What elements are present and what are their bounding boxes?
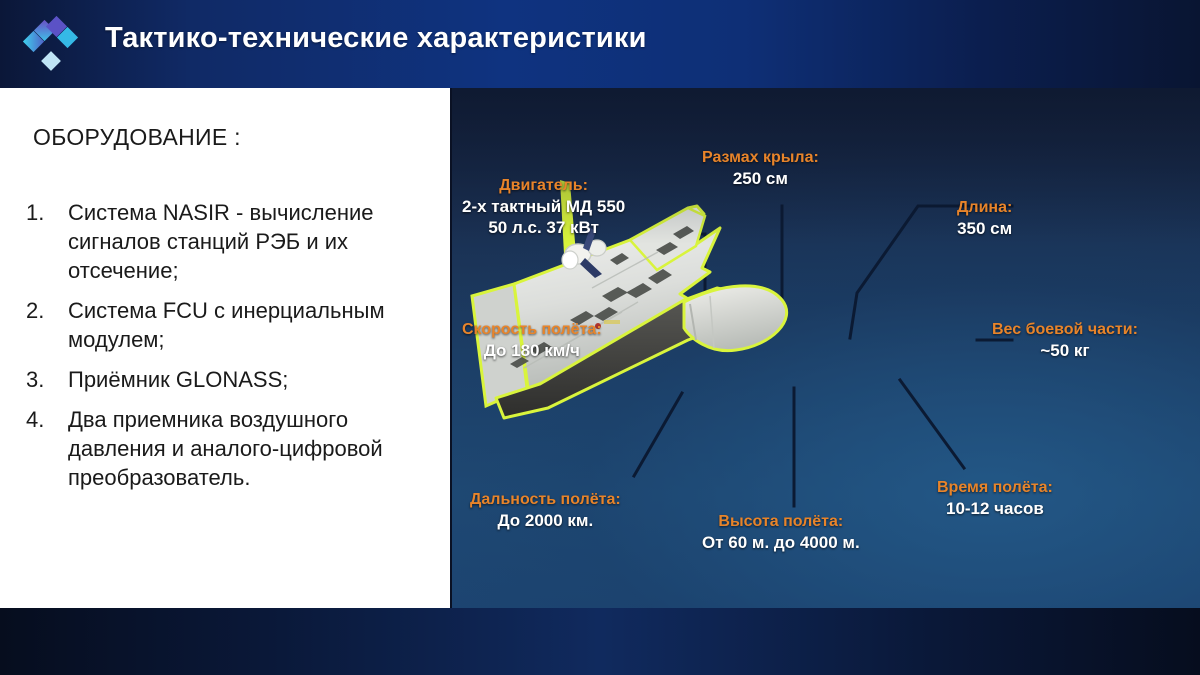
list-item: 3. Приёмник GLONASS;: [16, 365, 436, 394]
list-item-number: 4.: [16, 405, 68, 434]
list-item: 1. Система NASIR - вычисление сигналов с…: [16, 198, 436, 285]
equipment-list: 1. Система NASIR - вычисление сигналов с…: [16, 198, 436, 503]
list-item-number: 3.: [16, 365, 68, 394]
callout-value: 2-х тактный МД 550: [462, 196, 625, 217]
callout-key: Дальность полёта:: [470, 490, 621, 510]
callout-value: 350 см: [957, 218, 1012, 239]
callout-key: Двигатель:: [462, 176, 625, 196]
callout-key: Высота полёта:: [702, 512, 860, 532]
callout-value: 10-12 часов: [937, 498, 1053, 519]
page-title: Тактико-технические характеристики: [105, 22, 647, 55]
callout-wingspan: Размах крыла: 250 см: [702, 148, 819, 189]
callout-range: Дальность полёта: До 2000 км.: [470, 490, 621, 531]
callout-altitude: Высота полёта: От 60 м. до 4000 м.: [702, 512, 860, 553]
list-item-number: 2.: [16, 296, 68, 325]
callout-value: От 60 м. до 4000 м.: [702, 532, 860, 553]
callout-endurance: Время полёта: 10-12 часов: [937, 478, 1053, 519]
callout-value-2: 50 л.с. 37 кВт: [462, 217, 625, 238]
callout-key: Скорость полёта:: [462, 320, 602, 340]
callout-length: Длина: 350 см: [957, 198, 1012, 239]
slide-header: Тактико-технические характеристики: [0, 0, 1200, 88]
drone-diagram-panel: Двигатель: 2-х тактный МД 550 50 л.с. 37…: [452, 88, 1200, 608]
callout-value: До 2000 км.: [470, 510, 621, 531]
callout-value: ~50 кг: [992, 340, 1138, 361]
callout-key: Вес боевой части:: [992, 320, 1138, 340]
equipment-panel: ОБОРУДОВАНИЕ : 1. Система NASIR - вычисл…: [0, 88, 450, 608]
callout-key: Размах крыла:: [702, 148, 819, 168]
list-item-label: Приёмник GLONASS;: [68, 365, 418, 394]
list-item-number: 1.: [16, 198, 68, 227]
callout-warhead-weight: Вес боевой части: ~50 кг: [992, 320, 1138, 361]
callout-value: До 180 км/ч: [462, 340, 602, 361]
callout-key: Длина:: [957, 198, 1012, 218]
slide-footer-bar: [0, 608, 1200, 675]
callout-value: 250 см: [702, 168, 819, 189]
callout-speed: Скорость полёта: До 180 км/ч: [462, 320, 602, 361]
slide: Тактико-технические характеристики ОБОРУ…: [0, 0, 1200, 675]
callout-key: Время полёта:: [937, 478, 1053, 498]
callout-engine: Двигатель: 2-х тактный МД 550 50 л.с. 37…: [462, 176, 625, 239]
chevron-diamond-logo-icon: [20, 16, 82, 74]
list-item-label: Система NASIR - вычисление сигналов стан…: [68, 198, 418, 285]
list-item: 2. Система FCU с инерциальным модулем;: [16, 296, 436, 354]
equipment-heading: ОБОРУДОВАНИЕ :: [33, 124, 241, 151]
list-item-label: Система FCU с инерциальным модулем;: [68, 296, 418, 354]
list-item-label: Два приемника воздушного давления и анал…: [68, 405, 418, 492]
list-item: 4. Два приемника воздушного давления и а…: [16, 405, 436, 492]
